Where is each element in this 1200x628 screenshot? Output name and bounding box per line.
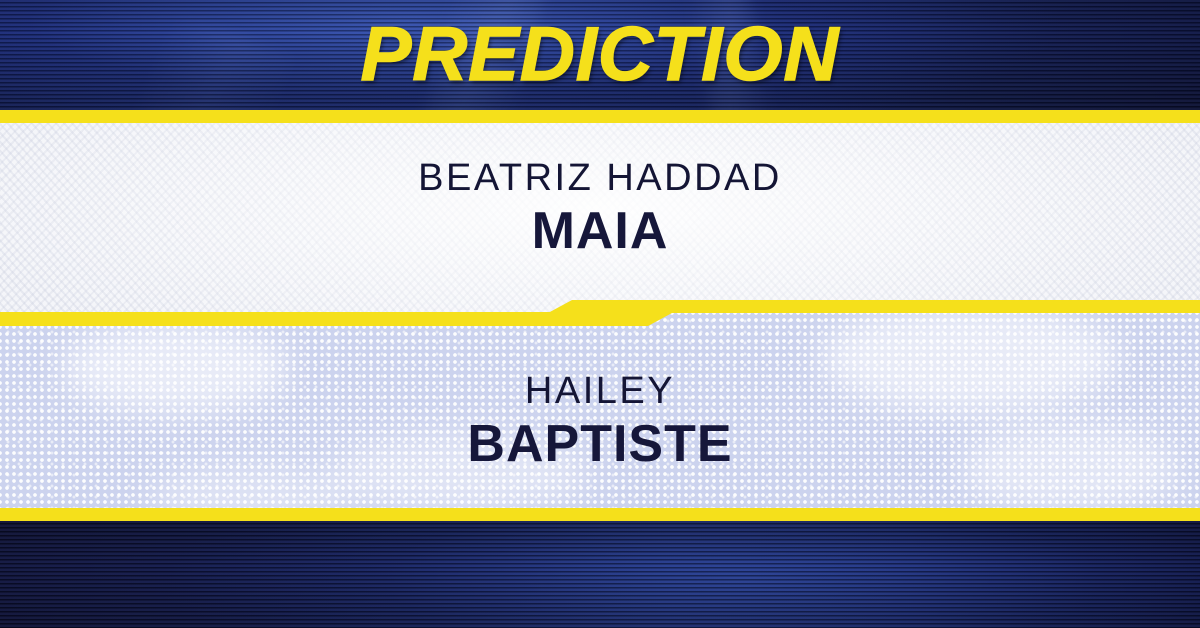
player-one-name: BEATRIZ HADDAD MAIA (0, 155, 1200, 261)
prediction-graphic: PREDICTION BEATRIZ HADDAD MAIA HAILEY BA… (0, 0, 1200, 628)
player-one-first-name: BEATRIZ HADDAD (0, 155, 1200, 201)
divider-rule-bottom (0, 508, 1200, 521)
footer-banner (0, 521, 1200, 628)
player-two-name: HAILEY BAPTISTE (0, 368, 1200, 474)
page-title: PREDICTION (0, 12, 1200, 98)
divider-rule-top (0, 110, 1200, 123)
player-two-first-name: HAILEY (0, 368, 1200, 414)
player-one-last-name: MAIA (0, 201, 1200, 261)
player-two-last-name: BAPTISTE (0, 414, 1200, 474)
footer-vignette (0, 521, 1200, 628)
